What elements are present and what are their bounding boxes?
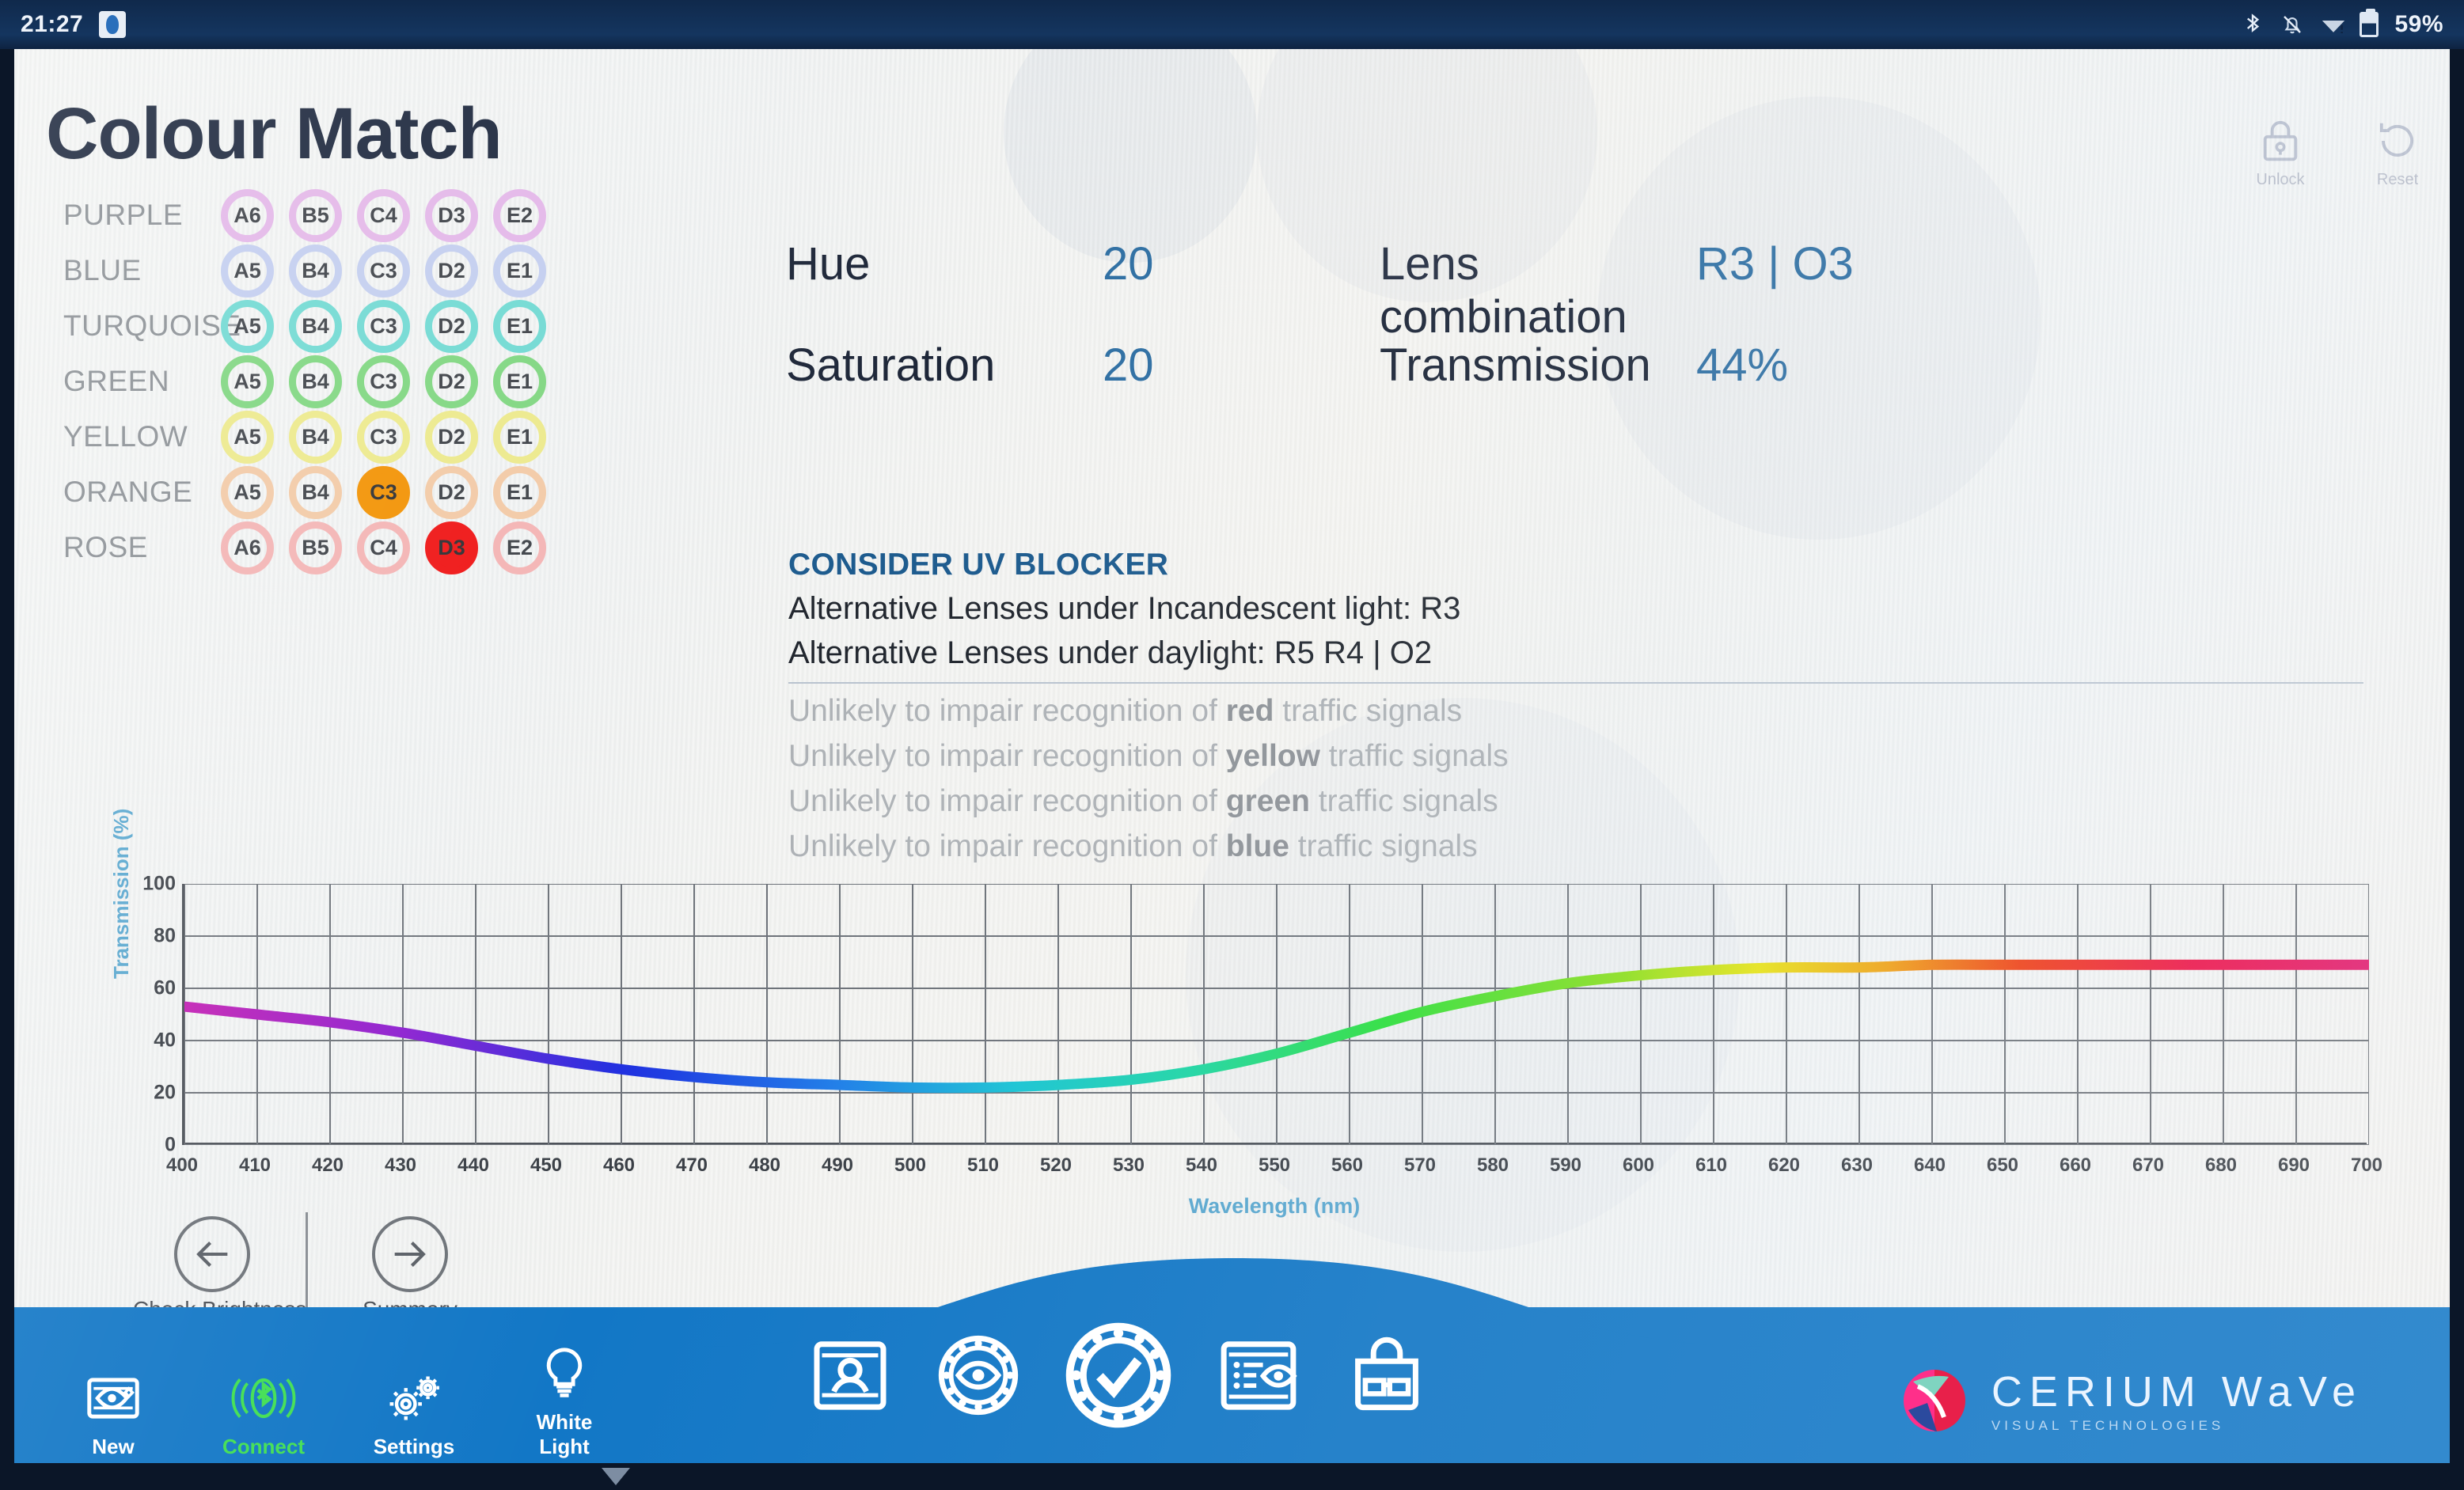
colour-cell-turquoise-e1[interactable]: E1 xyxy=(493,300,546,353)
chart-x-tick: 470 xyxy=(676,1154,708,1177)
signal-prefix: Unlikely to impair recognition of xyxy=(788,739,1226,773)
report-eye-icon xyxy=(1214,1409,1303,1423)
app-screen: Colour Match Unlock Reset PU xyxy=(14,49,2450,1465)
saturation-value: 20 xyxy=(1103,339,1380,392)
colour-cell-orange-b4[interactable]: B4 xyxy=(289,466,342,519)
colour-row-cells: A5B4C3D2E1 xyxy=(221,411,546,464)
signal-suffix: traffic signals xyxy=(1274,694,1462,728)
colour-cell-green-e1[interactable]: E1 xyxy=(493,355,546,408)
brand-logo: CERIUM WaVe VISUAL TECHNOLOGIES xyxy=(1896,1363,2363,1439)
colour-row-orange: ORANGEA5B4C3D2E1 xyxy=(51,464,779,520)
colour-cell-blue-e1[interactable]: E1 xyxy=(493,245,546,298)
colour-row-cells: A5B4C3D2E1 xyxy=(221,466,546,519)
colour-row-rose: ROSEA6B5C4D3E2 xyxy=(51,520,779,575)
traffic-signal-line-green: Unlikely to impair recognition of green … xyxy=(788,784,2371,819)
colour-cell-purple-a6[interactable]: A6 xyxy=(221,189,274,242)
colour-cell-green-a5[interactable]: A5 xyxy=(221,355,274,408)
colour-row-label: TURQUOISE xyxy=(51,309,221,343)
colour-cell-purple-b5[interactable]: B5 xyxy=(289,189,342,242)
signal-colour: yellow xyxy=(1226,739,1320,773)
brand-tagline: VISUAL TECHNOLOGIES xyxy=(1991,1418,2363,1434)
status-bar-icons: 59% xyxy=(2241,11,2443,38)
colour-cell-turquoise-c3[interactable]: C3 xyxy=(357,300,410,353)
android-status-bar: 21:27 59% xyxy=(0,0,2464,49)
back-button[interactable] xyxy=(602,1468,630,1485)
transmission-value: 44% xyxy=(1696,339,1788,392)
status-bar-clock: 21:27 xyxy=(21,11,83,38)
chart-x-tick: 440 xyxy=(457,1154,489,1177)
lens-combination-value: R3 | O3 xyxy=(1696,237,1854,290)
chart-x-tick: 650 xyxy=(1987,1154,2018,1177)
colour-cell-rose-c4[interactable]: C4 xyxy=(357,521,410,574)
chart-x-tick: 520 xyxy=(1040,1154,1072,1177)
chart-x-tick: 600 xyxy=(1623,1154,1654,1177)
connect-button-label: Connect xyxy=(212,1435,315,1459)
chart-x-tick: 410 xyxy=(239,1154,271,1177)
colour-row-label: GREEN xyxy=(51,365,221,398)
chart-x-tick: 400 xyxy=(166,1154,198,1177)
colour-grid: PURPLEA6B5C4D3E2BLUEA5B4C3D2E1TURQUOISEA… xyxy=(51,188,779,575)
colour-cell-yellow-b4[interactable]: B4 xyxy=(289,411,342,464)
chart-x-tick: 430 xyxy=(385,1154,416,1177)
chart-x-tick: 610 xyxy=(1695,1154,1727,1177)
chart-y-tick: 0 xyxy=(165,1134,176,1157)
colour-cell-green-c3[interactable]: C3 xyxy=(357,355,410,408)
lens-combination-label: Lens combination xyxy=(1380,237,1696,343)
chart-x-tick: 580 xyxy=(1477,1154,1509,1177)
colour-cell-green-d2[interactable]: D2 xyxy=(425,355,478,408)
bottom-toolbar: NewConnectSettingsWhite Light CERIUM WaV… xyxy=(14,1307,2450,1465)
colour-cell-purple-d3[interactable]: D3 xyxy=(425,189,478,242)
colour-row-label: BLUE xyxy=(51,254,221,287)
hue-label: Hue xyxy=(786,237,1103,290)
hue-value: 20 xyxy=(1103,237,1380,290)
app-icon xyxy=(99,11,126,38)
signal-prefix: Unlikely to impair recognition of xyxy=(788,694,1226,728)
colour-cell-orange-c3[interactable]: C3 xyxy=(357,466,410,519)
signal-colour: green xyxy=(1226,784,1310,818)
chart-x-tick: 640 xyxy=(1914,1154,1946,1177)
unlock-button[interactable]: Unlock xyxy=(2244,116,2317,189)
colour-row-cells: A5B4C3D2E1 xyxy=(221,355,546,408)
chart-y-tick: 60 xyxy=(154,977,176,1000)
colour-cell-blue-c3[interactable]: C3 xyxy=(357,245,410,298)
settings-button-label: Settings xyxy=(363,1435,465,1459)
chart-svg xyxy=(184,884,2369,1145)
chart-x-tick: 490 xyxy=(822,1154,853,1177)
lock-icon xyxy=(2256,116,2305,165)
traffic-signal-list: Unlikely to impair recognition of red tr… xyxy=(788,694,2371,864)
chart-x-tick: 590 xyxy=(1550,1154,1581,1177)
colour-cell-rose-b5[interactable]: B5 xyxy=(289,521,342,574)
transmission-label: Transmission xyxy=(1380,339,1696,392)
chart-y-tick: 20 xyxy=(154,1082,176,1105)
corner-tools: Unlock Reset xyxy=(2244,116,2434,189)
hue-value-text: 20 xyxy=(1103,238,1154,290)
colour-cell-purple-e2[interactable]: E2 xyxy=(493,189,546,242)
colour-cell-purple-c4[interactable]: C4 xyxy=(357,189,410,242)
advice-line-incandescent: Alternative Lenses under Incandescent li… xyxy=(788,591,2371,627)
colour-cell-yellow-d2[interactable]: D2 xyxy=(425,411,478,464)
colour-cell-yellow-a5[interactable]: A5 xyxy=(221,411,274,464)
chart-x-tick: 420 xyxy=(312,1154,344,1177)
advice-line-daylight: Alternative Lenses under daylight: R5 R4… xyxy=(788,635,2371,671)
signal-prefix: Unlikely to impair recognition of xyxy=(788,784,1226,818)
connect-button[interactable]: Connect xyxy=(212,1369,315,1459)
chart-x-tick: 500 xyxy=(894,1154,926,1177)
chart-x-axis-label: Wavelength (nm) xyxy=(182,1194,2367,1219)
signal-colour: red xyxy=(1226,694,1274,728)
traffic-signal-line-blue: Unlikely to impair recognition of blue t… xyxy=(788,829,2371,864)
chart-x-tick: 550 xyxy=(1259,1154,1290,1177)
colour-row-purple: PURPLEA6B5C4D3E2 xyxy=(51,188,779,243)
bluetooth-waves-icon xyxy=(212,1369,315,1431)
patient-button[interactable] xyxy=(806,1331,901,1426)
colour-cell-turquoise-a5[interactable]: A5 xyxy=(221,300,274,353)
glasses-button[interactable] xyxy=(1342,1331,1437,1426)
chart-x-ticks: 4004104204304404504604704804905005105205… xyxy=(182,1154,2367,1186)
traffic-signal-line-yellow: Unlikely to impair recognition of yellow… xyxy=(788,739,2371,774)
eye-screen-icon xyxy=(62,1369,165,1431)
colour-cell-blue-d2[interactable]: D2 xyxy=(425,245,478,298)
chart-y-tick: 100 xyxy=(142,873,176,896)
chart-x-tick: 540 xyxy=(1186,1154,1217,1177)
chart-x-tick: 480 xyxy=(749,1154,780,1177)
chart-x-tick: 690 xyxy=(2278,1154,2310,1177)
colour-cell-blue-b4[interactable]: B4 xyxy=(289,245,342,298)
results-button[interactable] xyxy=(1214,1331,1309,1426)
advice-panel: CONSIDER UV BLOCKER Alternative Lenses u… xyxy=(788,548,2371,864)
chart-y-ticks: 020406080100 xyxy=(127,884,176,1149)
colour-cell-orange-e1[interactable]: E1 xyxy=(493,466,546,519)
colour-cell-turquoise-b4[interactable]: B4 xyxy=(289,300,342,353)
colour-row-label: ROSE xyxy=(51,531,221,564)
white-light-button-label: White Light xyxy=(513,1410,616,1459)
chart-y-tick: 40 xyxy=(154,1029,176,1052)
chart-plot-area xyxy=(182,884,2367,1145)
traffic-signal-line-red: Unlikely to impair recognition of red tr… xyxy=(788,694,2371,729)
chart-x-tick: 560 xyxy=(1331,1154,1363,1177)
colour-cell-orange-d2[interactable]: D2 xyxy=(425,466,478,519)
advice-heading: CONSIDER UV BLOCKER xyxy=(788,548,2371,582)
settings-button[interactable]: Settings xyxy=(363,1369,465,1459)
brand-name: CERIUM WaVe xyxy=(1991,1367,2363,1416)
colour-row-label: YELLOW xyxy=(51,420,221,453)
tablet-device: 21:27 59% Colour Match xyxy=(0,0,2464,1490)
colour-row-label: PURPLE xyxy=(51,199,221,232)
signal-prefix: Unlikely to impair recognition of xyxy=(788,829,1226,863)
chart-x-tick: 510 xyxy=(967,1154,999,1177)
chart-x-tick: 450 xyxy=(530,1154,562,1177)
colour-cell-orange-a5[interactable]: A5 xyxy=(221,466,274,519)
toolbar-center-items xyxy=(806,1319,1437,1438)
chart-x-tick: 460 xyxy=(603,1154,635,1177)
chart-x-tick: 630 xyxy=(1841,1154,1873,1177)
chart-x-tick: 680 xyxy=(2205,1154,2237,1177)
colour-row-yellow: YELLOWA5B4C3D2E1 xyxy=(51,409,779,464)
colour-cell-turquoise-d2[interactable]: D2 xyxy=(425,300,478,353)
saturation-label: Saturation xyxy=(786,339,1103,392)
reset-button[interactable]: Reset xyxy=(2361,116,2434,189)
eye-dial-icon xyxy=(934,1409,1023,1423)
battery-percent: 59% xyxy=(2394,11,2443,38)
android-nav-bar xyxy=(0,1463,2464,1490)
colour-cell-green-b4[interactable]: B4 xyxy=(289,355,342,408)
colour-row-turquoise: TURQUOISEA5B4C3D2E1 xyxy=(51,298,779,354)
chart-x-tick: 660 xyxy=(2060,1154,2091,1177)
colour-row-green: GREENA5B4C3D2E1 xyxy=(51,354,779,409)
gears-icon xyxy=(363,1369,465,1431)
check-dial-icon xyxy=(1062,1421,1175,1435)
chart-gridlines xyxy=(184,884,2369,1145)
chart-x-tick: 700 xyxy=(2351,1154,2382,1177)
signal-suffix: traffic signals xyxy=(1289,829,1478,863)
chart-x-tick: 620 xyxy=(1768,1154,1800,1177)
glasses-bag-icon xyxy=(1342,1409,1431,1423)
wifi-icon xyxy=(2320,11,2344,38)
eye-test-button[interactable] xyxy=(934,1331,1029,1426)
readout-row-saturation: Saturation 20 Transmission 44% xyxy=(786,339,2417,440)
chart-x-tick: 670 xyxy=(2132,1154,2164,1177)
new-button[interactable]: New xyxy=(62,1369,165,1459)
colour-cell-rose-d3[interactable]: D3 xyxy=(425,521,478,574)
colour-cell-yellow-c3[interactable]: C3 xyxy=(357,411,410,464)
colour-row-cells: A5B4C3D2E1 xyxy=(221,245,546,298)
white-light-button[interactable]: White Light xyxy=(513,1344,616,1459)
new-button-label: New xyxy=(62,1435,165,1459)
battery-icon xyxy=(2360,12,2379,37)
colour-row-cells: A6B5C4D3E2 xyxy=(221,189,546,242)
signal-suffix: traffic signals xyxy=(1320,739,1509,773)
colour-row-blue: BLUEA5B4C3D2E1 xyxy=(51,243,779,298)
colour-cell-yellow-e1[interactable]: E1 xyxy=(493,411,546,464)
cerium-mark-icon xyxy=(1896,1363,1972,1439)
chart-x-tick: 570 xyxy=(1404,1154,1436,1177)
reset-icon xyxy=(2373,116,2422,165)
colour-row-cells: A5B4C3D2E1 xyxy=(221,300,546,353)
patient-card-icon xyxy=(806,1409,894,1423)
colour-cell-blue-a5[interactable]: A5 xyxy=(221,245,274,298)
unlock-label: Unlock xyxy=(2244,171,2317,189)
bluetooth-icon xyxy=(2241,11,2265,38)
toolbar-left-items: NewConnectSettingsWhite Light xyxy=(62,1344,616,1459)
divider xyxy=(788,682,2363,684)
chart-x-tick: 530 xyxy=(1113,1154,1145,1177)
signal-colour: blue xyxy=(1226,829,1289,863)
page-title: Colour Match xyxy=(46,93,502,176)
colour-match-button[interactable] xyxy=(1062,1319,1181,1438)
lightbulb-icon xyxy=(513,1344,616,1407)
chart-y-tick: 80 xyxy=(154,925,176,948)
colour-row-cells: A6B5C4D3E2 xyxy=(221,521,546,574)
notifications-muted-icon xyxy=(2280,11,2304,38)
colour-cell-rose-e2[interactable]: E2 xyxy=(493,521,546,574)
colour-row-label: ORANGE xyxy=(51,476,221,509)
reset-label: Reset xyxy=(2361,171,2434,189)
signal-suffix: traffic signals xyxy=(1310,784,1498,818)
readout-row-hue: Hue 20 Lens combination R3 | O3 xyxy=(786,237,2417,339)
colour-cell-rose-a6[interactable]: A6 xyxy=(221,521,274,574)
readout-panel: Hue 20 Lens combination R3 | O3 Saturati… xyxy=(786,237,2417,440)
transmission-chart: Transmission (%) 020406080100 xyxy=(109,884,2428,1256)
